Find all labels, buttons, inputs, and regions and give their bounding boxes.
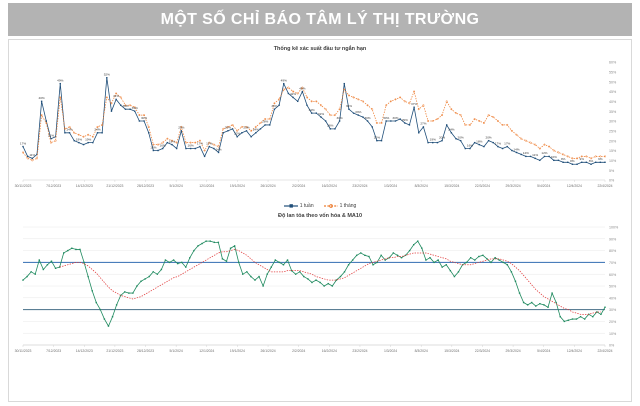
- svg-text:25%: 25%: [609, 129, 617, 133]
- svg-text:14%: 14%: [215, 147, 221, 151]
- svg-text:30%: 30%: [609, 308, 617, 312]
- svg-text:100%: 100%: [609, 226, 619, 230]
- svg-text:55%: 55%: [609, 70, 617, 74]
- svg-text:50%: 50%: [609, 80, 617, 84]
- svg-text:20%: 20%: [458, 135, 464, 139]
- svg-text:10%: 10%: [609, 332, 617, 336]
- svg-text:17%: 17%: [197, 141, 203, 145]
- svg-text:37%: 37%: [411, 102, 417, 106]
- svg-text:23/2/2024: 23/2/2024: [352, 184, 367, 188]
- svg-text:19%: 19%: [76, 137, 82, 141]
- svg-text:0%: 0%: [609, 344, 615, 348]
- svg-text:40%: 40%: [609, 100, 617, 104]
- svg-text:7/12/2023: 7/12/2023: [46, 184, 61, 188]
- svg-text:24%: 24%: [448, 128, 454, 132]
- svg-text:52%: 52%: [104, 73, 110, 77]
- svg-text:15/3/2024: 15/3/2024: [444, 184, 459, 188]
- svg-text:29%: 29%: [402, 118, 408, 122]
- svg-text:14/12/2023: 14/12/2023: [76, 184, 93, 188]
- screenshot-root: MỘT SỐ CHỈ BÁO TÂM LÝ THỊ TRƯỜNG Thống k…: [0, 0, 640, 406]
- svg-text:30%: 30%: [337, 116, 343, 120]
- svg-text:40%: 40%: [609, 296, 617, 300]
- svg-text:21%: 21%: [48, 134, 54, 138]
- svg-text:80%: 80%: [609, 249, 617, 253]
- svg-text:25%: 25%: [243, 126, 249, 130]
- svg-text:5/4/2024: 5/4/2024: [537, 349, 550, 353]
- svg-text:12%: 12%: [523, 151, 529, 155]
- svg-text:50%: 50%: [609, 285, 617, 289]
- svg-text:36%: 36%: [122, 104, 128, 108]
- svg-text:22/3/2024: 22/3/2024: [475, 349, 490, 353]
- svg-text:60%: 60%: [609, 273, 617, 277]
- svg-text:30%: 30%: [392, 116, 398, 120]
- svg-text:30/11/2023: 30/11/2023: [15, 349, 32, 353]
- svg-text:20%: 20%: [609, 139, 617, 143]
- svg-text:90%: 90%: [609, 237, 617, 241]
- svg-text:33%: 33%: [355, 110, 361, 114]
- svg-text:28/12/2023: 28/12/2023: [137, 349, 154, 353]
- svg-text:17%: 17%: [495, 141, 501, 145]
- svg-text:24%: 24%: [94, 128, 100, 132]
- svg-text:15%: 15%: [609, 149, 617, 153]
- svg-text:19%: 19%: [85, 137, 91, 141]
- svg-text:14%: 14%: [513, 147, 519, 151]
- svg-text:20%: 20%: [439, 135, 445, 139]
- top-chart-svg: 0%5%10%15%20%25%30%35%40%45%50%55%60%17%…: [9, 52, 631, 202]
- svg-text:2/2/2024: 2/2/2024: [292, 349, 305, 353]
- svg-text:12/1/2024: 12/1/2024: [199, 349, 214, 353]
- svg-text:8%: 8%: [570, 159, 575, 163]
- bottom-chart-block: Độ lan tỏa theo vốn hóa & MA10 0%10%20%3…: [9, 209, 631, 367]
- svg-text:29/3/2024: 29/3/2024: [506, 349, 521, 353]
- svg-text:30/11/2023: 30/11/2023: [15, 184, 32, 188]
- svg-text:30%: 30%: [141, 116, 147, 120]
- svg-text:7/12/2023: 7/12/2023: [46, 349, 61, 353]
- svg-text:49%: 49%: [57, 78, 63, 82]
- svg-text:49%: 49%: [281, 78, 287, 82]
- svg-text:25%: 25%: [178, 126, 184, 130]
- bottom-chart-svg: 0%10%20%30%40%50%60%70%80%90%100%30/11/2…: [9, 219, 631, 367]
- svg-text:19%: 19%: [430, 137, 436, 141]
- svg-text:17%: 17%: [20, 141, 26, 145]
- legend-label-1-thang: 1 tháng: [340, 203, 357, 209]
- svg-text:36%: 36%: [271, 104, 277, 108]
- svg-text:8%: 8%: [589, 159, 594, 163]
- svg-text:16/2/2024: 16/2/2024: [322, 184, 337, 188]
- svg-text:0%: 0%: [609, 179, 615, 183]
- svg-text:11%: 11%: [29, 153, 35, 157]
- top-chart-block: Thống kê xác suất đầu tư ngắn hạn 0%5%10…: [9, 40, 631, 209]
- svg-text:30%: 30%: [609, 120, 617, 124]
- svg-text:8/3/2024: 8/3/2024: [415, 349, 428, 353]
- svg-text:1/3/2024: 1/3/2024: [384, 349, 397, 353]
- svg-text:42%: 42%: [290, 92, 296, 96]
- svg-text:9%: 9%: [598, 157, 603, 161]
- svg-text:16%: 16%: [160, 143, 166, 147]
- svg-text:10%: 10%: [609, 159, 617, 163]
- svg-text:36%: 36%: [346, 104, 352, 108]
- svg-text:15%: 15%: [150, 145, 156, 149]
- svg-text:20%: 20%: [485, 135, 491, 139]
- svg-text:30%: 30%: [364, 116, 370, 120]
- svg-text:22%: 22%: [234, 132, 240, 136]
- svg-text:35%: 35%: [609, 110, 617, 114]
- svg-text:40%: 40%: [39, 96, 45, 100]
- svg-text:16%: 16%: [467, 143, 473, 147]
- svg-text:27%: 27%: [420, 122, 426, 126]
- svg-text:21/12/2023: 21/12/2023: [106, 349, 123, 353]
- svg-text:17%: 17%: [504, 141, 510, 145]
- svg-text:20%: 20%: [374, 135, 380, 139]
- svg-text:35%: 35%: [132, 106, 138, 110]
- svg-text:1/3/2024: 1/3/2024: [384, 184, 397, 188]
- svg-text:29/3/2024: 29/3/2024: [506, 184, 521, 188]
- svg-text:30%: 30%: [383, 116, 389, 120]
- svg-text:24%: 24%: [253, 128, 259, 132]
- svg-text:12/4/2024: 12/4/2024: [567, 184, 582, 188]
- svg-text:11%: 11%: [532, 153, 538, 157]
- legend-swatch-1-tuan: [284, 203, 298, 209]
- top-chart-plot-wrap: 0%5%10%15%20%25%30%35%40%45%50%55%60%17%…: [9, 52, 631, 202]
- legend-entry-1-tuan: 1 tuần: [284, 203, 314, 209]
- svg-text:5/1/2024: 5/1/2024: [170, 184, 183, 188]
- svg-text:45%: 45%: [299, 86, 305, 90]
- svg-text:16/2/2024: 16/2/2024: [322, 349, 337, 353]
- legend-entry-1-thang: 1 tháng: [324, 203, 357, 209]
- svg-text:22/4/2024: 22/4/2024: [597, 184, 612, 188]
- svg-text:5/4/2024: 5/4/2024: [537, 184, 550, 188]
- svg-text:14/12/2023: 14/12/2023: [76, 349, 93, 353]
- svg-text:22/3/2024: 22/3/2024: [475, 184, 490, 188]
- svg-text:17%: 17%: [206, 141, 212, 145]
- svg-text:9%: 9%: [579, 157, 584, 161]
- svg-text:60%: 60%: [609, 61, 617, 65]
- svg-text:20%: 20%: [609, 320, 617, 324]
- svg-text:8/3/2024: 8/3/2024: [415, 184, 428, 188]
- svg-text:28/12/2023: 28/12/2023: [137, 184, 154, 188]
- svg-text:9%: 9%: [561, 157, 566, 161]
- svg-text:19/1/2024: 19/1/2024: [230, 349, 245, 353]
- svg-text:26/1/2024: 26/1/2024: [261, 349, 276, 353]
- svg-text:2/2/2024: 2/2/2024: [292, 184, 305, 188]
- charts-card: Thống kê xác suất đầu tư ngắn hạn 0%5%10…: [8, 39, 632, 402]
- svg-text:26%: 26%: [327, 124, 333, 128]
- svg-text:23/2/2024: 23/2/2024: [352, 349, 367, 353]
- svg-text:12/1/2024: 12/1/2024: [199, 184, 214, 188]
- svg-text:45%: 45%: [609, 90, 617, 94]
- svg-text:18%: 18%: [169, 139, 175, 143]
- svg-text:18%: 18%: [476, 139, 482, 143]
- legend-swatch-1-thang: [324, 203, 338, 209]
- svg-text:34%: 34%: [309, 108, 315, 112]
- svg-text:16%: 16%: [188, 143, 194, 147]
- page-title-banner: MỘT SỐ CHỈ BÁO TÂM LÝ THỊ TRƯỜNG: [8, 3, 632, 36]
- page-title: MỘT SỐ CHỈ BÁO TÂM LÝ THỊ TRƯỜNG: [161, 11, 480, 29]
- legend-label-1-tuan: 1 tuần: [300, 203, 314, 209]
- svg-text:21/12/2023: 21/12/2023: [106, 184, 123, 188]
- svg-text:70%: 70%: [609, 261, 617, 265]
- svg-text:26/1/2024: 26/1/2024: [261, 184, 276, 188]
- svg-text:5%: 5%: [609, 169, 615, 173]
- svg-text:41%: 41%: [113, 94, 119, 98]
- svg-text:22/4/2024: 22/4/2024: [597, 349, 612, 353]
- svg-text:28%: 28%: [262, 120, 268, 124]
- bottom-chart-plot-wrap: 0%10%20%30%40%50%60%70%80%90%100%30/11/2…: [9, 219, 631, 367]
- svg-text:5/1/2024: 5/1/2024: [170, 349, 183, 353]
- svg-text:19/1/2024: 19/1/2024: [230, 184, 245, 188]
- svg-text:32%: 32%: [318, 112, 324, 116]
- svg-text:15/3/2024: 15/3/2024: [444, 349, 459, 353]
- svg-text:12/4/2024: 12/4/2024: [567, 349, 582, 353]
- svg-text:25%: 25%: [225, 126, 231, 130]
- svg-text:24%: 24%: [66, 128, 72, 132]
- svg-text:12%: 12%: [541, 151, 547, 155]
- svg-text:10%: 10%: [551, 155, 557, 159]
